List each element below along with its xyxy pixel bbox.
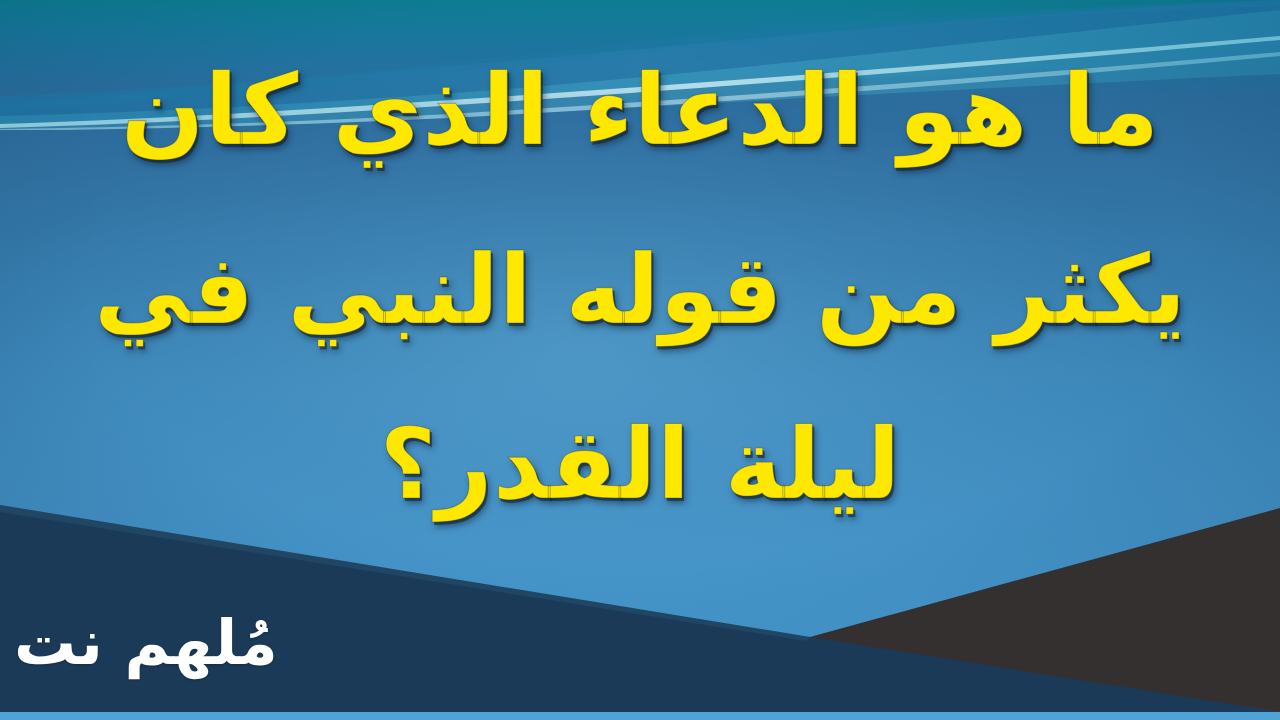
headline-line-3: ليلة القدر؟ — [28, 416, 1252, 514]
slide-canvas: ما هو الدعاء الذي كان يكثر من قوله النبي… — [0, 0, 1280, 720]
headline-line-2: يكثر من قوله النبي في — [28, 242, 1252, 338]
headline-line-1: ما هو الدعاء الذي كان — [28, 62, 1252, 160]
headline-text: ما هو الدعاء الذي كان يكثر من قوله النبي… — [0, 62, 1280, 514]
watermark-text: مُلهم نت — [14, 612, 278, 674]
